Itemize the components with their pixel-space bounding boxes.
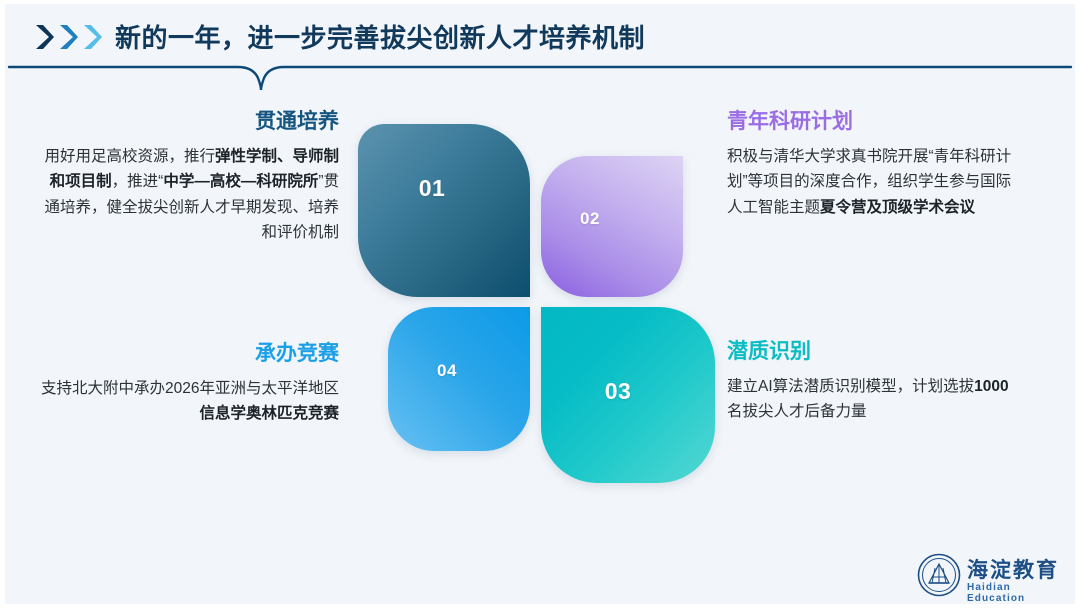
page-title: 新的一年，进一步完善拔尖创新人才培养机制: [115, 18, 645, 55]
block-01-heading: 贯通培养: [39, 108, 339, 135]
block-03-body: 建立AI算法潜质识别模型，计划选拔1000名拔尖人才后备力量: [727, 374, 1017, 424]
petal-04[interactable]: 04: [388, 307, 530, 451]
header-divider: [5, 56, 1075, 94]
content-block-04: 承办竞赛 支持北大附中承办2026年亚洲与太平洋地区信息学奥林匹克竞赛: [39, 340, 339, 427]
haidian-education-seal-icon: [917, 553, 961, 597]
footer-logo: 海淀教育 Haidian Education: [917, 553, 1067, 599]
petal-01-number: 01: [419, 175, 446, 202]
block-01-text-pre: 用好用足高校资源，推行: [44, 148, 215, 165]
chevron-3-icon: [81, 23, 103, 51]
block-03-heading: 潜质识别: [727, 338, 1017, 365]
petal-02-number: 02: [580, 209, 600, 229]
petal-03[interactable]: 03: [541, 307, 715, 483]
block-04-text-pre: 支持北大附中承办2026年亚洲与太平洋地区: [41, 380, 339, 397]
chevron-1-icon: [33, 23, 55, 51]
block-04-bold-1: 信息学奥林匹克竞赛: [199, 405, 339, 422]
double-chevron-right-icon: [33, 22, 111, 52]
block-01-body: 用好用足高校资源，推行弹性学制、导师制和项目制，推进“中学—高校—科研院所”贯通…: [39, 144, 339, 244]
slide-canvas: 新的一年，进一步完善拔尖创新人才培养机制 01 02 03 04 贯通培养 用好…: [0, 0, 1080, 608]
block-03-bold-1: 1000: [974, 378, 1008, 395]
block-04-heading: 承办竞赛: [39, 340, 339, 367]
block-01-bold-2: 中学—高校—科研院所: [163, 173, 318, 190]
block-01-text-mid-1: ，推进“: [112, 173, 164, 190]
four-petal-diagram: 01 02 03 04: [350, 114, 700, 504]
chevron-2-icon: [57, 23, 79, 51]
block-02-bold-1: 夏令营及顶级学术会议: [820, 199, 975, 216]
content-block-02: 青年科研计划 积极与清华大学求真书院开展“青年科研计划”等项目的深度合作，组织学…: [727, 108, 1017, 220]
block-02-heading: 青年科研计划: [727, 108, 1017, 135]
block-02-body: 积极与清华大学求真书院开展“青年科研计划”等项目的深度合作，组织学生参与国际人工…: [727, 144, 1017, 219]
logo-chinese-name: 海淀教育: [967, 554, 1059, 584]
petal-03-number: 03: [605, 378, 632, 405]
block-03-text-pre: 建立AI算法潜质识别模型，计划选拔: [727, 378, 974, 395]
logo-english-name: Haidian Education: [967, 582, 1067, 604]
content-block-01: 贯通培养 用好用足高校资源，推行弹性学制、导师制和项目制，推进“中学—高校—科研…: [39, 108, 339, 245]
block-04-body: 支持北大附中承办2026年亚洲与太平洋地区信息学奥林匹克竞赛: [39, 376, 339, 426]
petal-04-number: 04: [437, 361, 457, 381]
block-03-text-post: 名拔尖人才后备力量: [727, 403, 867, 420]
petal-01[interactable]: 01: [358, 124, 530, 297]
petal-02[interactable]: 02: [541, 156, 683, 297]
content-block-03: 潜质识别 建立AI算法潜质识别模型，计划选拔1000名拔尖人才后备力量: [727, 338, 1017, 425]
